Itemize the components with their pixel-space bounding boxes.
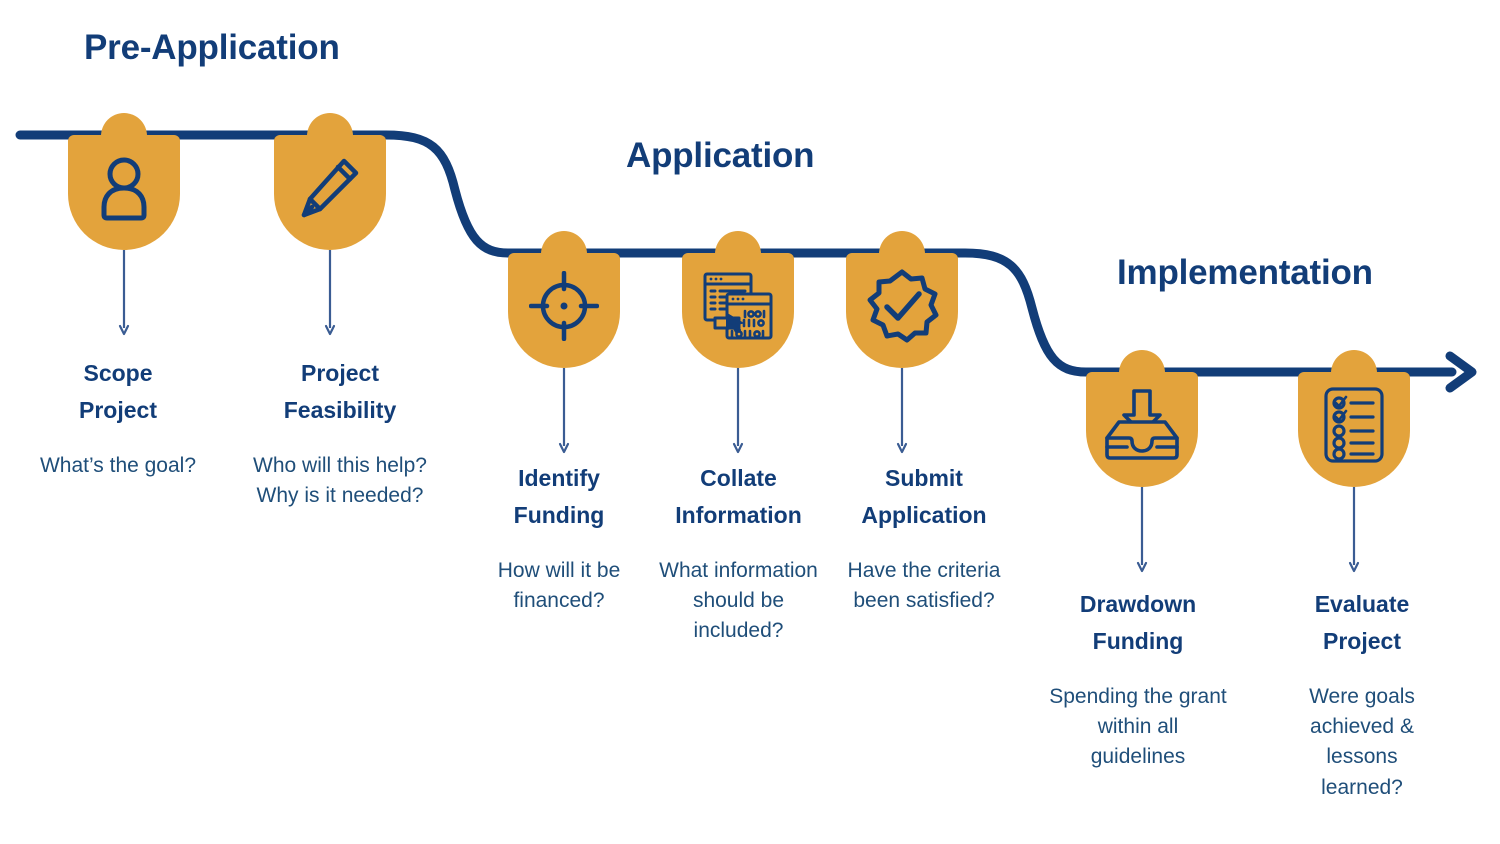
badge-scope-project[interactable] [68, 113, 180, 250]
step-question: How will it be financed? [489, 556, 629, 617]
step-title-line1: Project [237, 355, 443, 392]
step-question: Who will this help? Why is it needed? [237, 451, 443, 512]
phase-heading-application: Application [626, 136, 814, 176]
step-question: Spending the grant within all guidelines [1048, 682, 1228, 773]
seal-check-icon [846, 261, 958, 351]
badge-identify-funding[interactable] [508, 231, 620, 368]
phase-heading-implementation: Implementation [1117, 253, 1373, 293]
step-text-collate-information: Collate Information What information sho… [656, 460, 821, 647]
inbox-download-icon [1086, 380, 1198, 470]
step-text-project-feasibility: Project Feasibility Who will this help? … [237, 355, 443, 511]
step-text-evaluate-project: Evaluate Project Were goals achieved & l… [1292, 586, 1432, 803]
drop-connector-submit-application [895, 368, 909, 454]
step-title-line2: Funding [1048, 623, 1228, 660]
step-title-line1: Submit [838, 460, 1010, 497]
step-title-line2: Information [656, 497, 821, 534]
step-text-identify-funding: Identify Funding How will it be financed… [489, 460, 629, 616]
step-title-line2: Funding [489, 497, 629, 534]
pencil-icon [274, 143, 386, 233]
drop-connector-project-feasibility [323, 250, 337, 336]
drop-connector-collate-information [731, 368, 745, 454]
step-question: Were goals achieved & lessons learned? [1292, 682, 1432, 804]
drop-connector-identify-funding [557, 368, 571, 454]
checklist-clipboard-icon [1298, 380, 1410, 470]
step-title: Collate Information [656, 460, 821, 534]
step-title: Identify Funding [489, 460, 629, 534]
step-title-line1: Collate [656, 460, 821, 497]
person-icon [68, 143, 180, 233]
step-title-line1: Scope [39, 355, 197, 392]
badge-project-feasibility[interactable] [274, 113, 386, 250]
step-text-drawdown-funding: Drawdown Funding Spending the grant with… [1048, 586, 1228, 773]
step-question: Have the criteria been satisfied? [838, 556, 1010, 617]
badge-drawdown-funding[interactable] [1086, 350, 1198, 487]
drop-connector-drawdown-funding [1135, 487, 1149, 573]
documents-data-icon [682, 261, 794, 351]
step-title-line2: Project [1292, 623, 1432, 660]
badge-submit-application[interactable] [846, 231, 958, 368]
grant-process-infographic: Pre-Application Application Implementati… [0, 0, 1500, 844]
step-text-scope-project: Scope Project What’s the goal? [39, 355, 197, 481]
flow-timeline-path [0, 0, 1500, 844]
step-title-line1: Evaluate [1292, 586, 1432, 623]
phase-heading-pre-application: Pre-Application [84, 28, 340, 68]
arrow-right-icon [1450, 356, 1472, 388]
crosshair-icon [508, 261, 620, 351]
step-question: What information should be included? [656, 556, 821, 647]
step-title-line2: Application [838, 497, 1010, 534]
step-title: Drawdown Funding [1048, 586, 1228, 660]
step-title: Evaluate Project [1292, 586, 1432, 660]
badge-evaluate-project[interactable] [1298, 350, 1410, 487]
step-title-line2: Project [39, 392, 197, 429]
step-title: Scope Project [39, 355, 197, 429]
drop-connector-evaluate-project [1347, 487, 1361, 573]
step-text-submit-application: Submit Application Have the criteria bee… [838, 460, 1010, 616]
step-title: Project Feasibility [237, 355, 443, 429]
step-title-line1: Drawdown [1048, 586, 1228, 623]
step-question: What’s the goal? [39, 451, 197, 481]
badge-collate-information[interactable] [682, 231, 794, 368]
drop-connector-scope-project [117, 250, 131, 336]
step-title: Submit Application [838, 460, 1010, 534]
step-title-line2: Feasibility [237, 392, 443, 429]
step-title-line1: Identify [489, 460, 629, 497]
